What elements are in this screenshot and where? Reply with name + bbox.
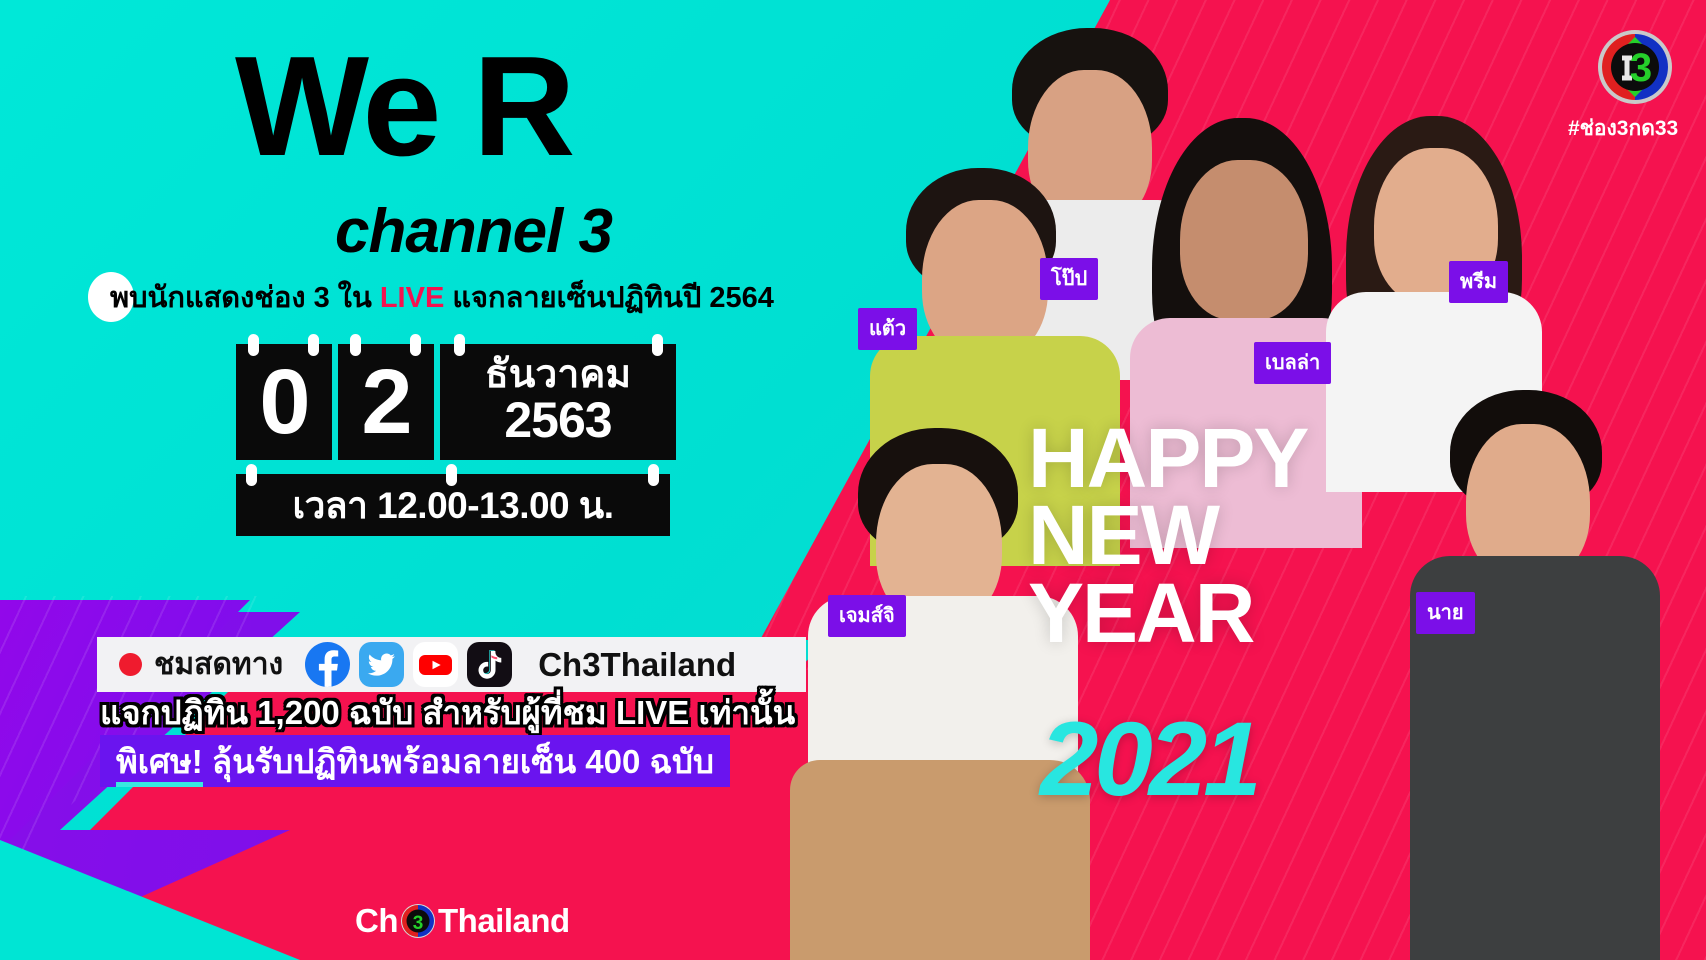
youtube-icon[interactable] bbox=[413, 642, 458, 687]
facebook-icon[interactable] bbox=[305, 642, 350, 687]
subtitle-before: พบนักแสดงช่อง 3 ใน bbox=[110, 282, 380, 314]
event-time-bar: เวลา 12.00-13.00 น. bbox=[236, 474, 670, 536]
social-icon-group bbox=[305, 642, 512, 687]
channel3-mark-icon: 3 bbox=[400, 903, 436, 939]
promo-highlight: พิเศษ! bbox=[116, 743, 203, 787]
poster-canvas: We R channel 3 พบนักแสดงช่อง 3 ใน LIVE แ… bbox=[0, 0, 1706, 960]
cast-tag: โป๊ป bbox=[1040, 258, 1098, 300]
bottom-brand-logo: Ch 3 Thailand bbox=[355, 902, 570, 940]
calendar-ring-icon bbox=[652, 334, 663, 356]
page-title: We R bbox=[235, 36, 571, 178]
subtitle-text: พบนักแสดงช่อง 3 ใน LIVE แจกลายเซ็นปฏิทิน… bbox=[110, 274, 774, 320]
bottom-logo-prefix: Ch bbox=[355, 902, 398, 940]
channel-hashtag: #ช่อง3กด33 bbox=[1568, 112, 1678, 145]
promo-line-2-bar: พิเศษ! ลุ้นรับปฏิทินพร้อมลายเซ็น 400 ฉบั… bbox=[100, 735, 730, 787]
hny-year-text: 2021 bbox=[1040, 700, 1258, 820]
hny-line-2: NEW bbox=[1028, 497, 1307, 574]
date-month-year: ธันวาคม 2563 bbox=[440, 344, 676, 460]
calendar-ring-icon bbox=[350, 334, 361, 356]
page-subtitle: channel 3 bbox=[335, 196, 612, 267]
channel3-logo-icon: 3 bbox=[1596, 28, 1674, 106]
hny-line-1: HAPPY bbox=[1028, 420, 1307, 497]
promo-line-2-rest: ลุ้นรับปฏิทินพร้อมลายเซ็น 400 ฉบับ bbox=[203, 743, 714, 780]
cast-tag: เจมส์จิ bbox=[828, 595, 906, 637]
cast-photo-bella bbox=[1180, 160, 1308, 320]
svg-text:3: 3 bbox=[413, 913, 424, 934]
calendar-ring-icon bbox=[648, 464, 659, 486]
calendar-ring-icon bbox=[246, 464, 257, 486]
cast-tag: เบลล่า bbox=[1254, 342, 1331, 384]
hny-line-3: YEAR bbox=[1028, 575, 1307, 652]
bottom-logo-suffix: Thailand bbox=[438, 902, 570, 940]
calendar-ring-icon bbox=[248, 334, 259, 356]
social-handle-text: Ch3Thailand bbox=[538, 646, 736, 684]
event-date-block: 0 2 ธันวาคม 2563 เวลา 12.00-13.00 น. bbox=[236, 344, 676, 536]
cast-tag: พรีม bbox=[1449, 261, 1508, 303]
calendar-ring-icon bbox=[454, 334, 465, 356]
calendar-ring-icon bbox=[410, 334, 421, 356]
calendar-ring-icon bbox=[446, 464, 457, 486]
date-year-value: 2563 bbox=[504, 395, 611, 445]
date-month-value: ธันวาคม bbox=[485, 355, 631, 396]
cast-tag: นาย bbox=[1416, 592, 1475, 634]
happy-new-year-text: HAPPY NEW YEAR bbox=[1028, 420, 1307, 652]
social-watch-bar: ชมสดทาง bbox=[97, 637, 806, 692]
date-day-digit-2: 2 bbox=[338, 344, 434, 460]
live-record-dot-icon bbox=[119, 653, 142, 676]
cast-photo-taew bbox=[922, 200, 1048, 358]
promo-line-1: แจกปฏิทิน 1,200 ฉบับ สำหรับผู้ที่ชม LIVE… bbox=[100, 686, 795, 739]
subtitle-live-badge: LIVE bbox=[380, 282, 444, 314]
svg-text:3: 3 bbox=[1630, 46, 1652, 90]
tiktok-icon[interactable] bbox=[467, 642, 512, 687]
date-day-digit-1: 0 bbox=[236, 344, 332, 460]
social-watch-label: ชมสดทาง bbox=[154, 641, 283, 688]
cast-tag: แต้ว bbox=[858, 308, 917, 350]
promo-line-2: พิเศษ! ลุ้นรับปฏิทินพร้อมลายเซ็น 400 ฉบั… bbox=[116, 735, 714, 788]
calendar-ring-icon bbox=[308, 334, 319, 356]
date-flip-row: 0 2 ธันวาคม 2563 bbox=[236, 344, 676, 460]
date-day-digit-1-value: 0 bbox=[259, 356, 308, 448]
date-day-digit-2-value: 2 bbox=[361, 356, 410, 448]
subtitle-after: แจกลายเซ็นปฏิทินปี 2564 bbox=[444, 282, 774, 314]
twitter-icon[interactable] bbox=[359, 642, 404, 687]
subtitle-line: พบนักแสดงช่อง 3 ใน LIVE แจกลายเซ็นปฏิทิน… bbox=[88, 272, 774, 322]
